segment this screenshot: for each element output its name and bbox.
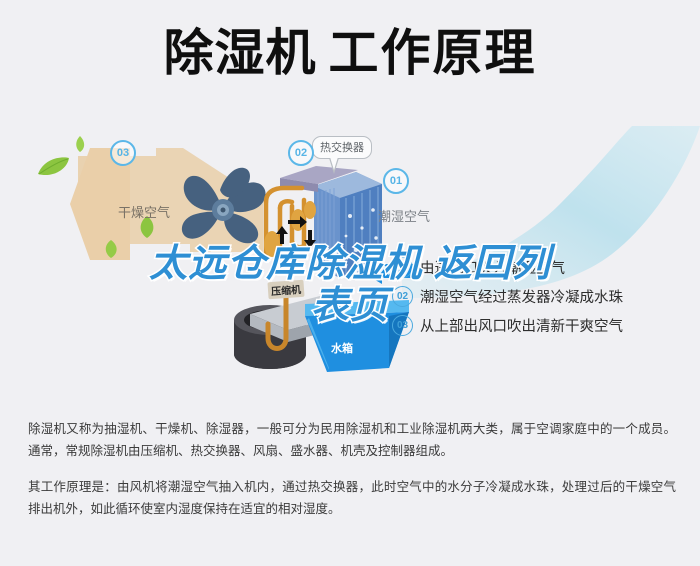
page-header: 除湿机工作原理 — [0, 0, 700, 118]
description-paragraph-2: 其工作原理是：由风机将潮湿空气抽入机内，通过热交换器，此时空气中的水分子冷凝成水… — [28, 476, 676, 520]
legend-item: 02 潮湿空气经过蒸发器冷凝成水珠 — [392, 282, 692, 311]
water-tank-label: 水箱 — [331, 340, 353, 356]
title-segment-product: 除湿机 — [164, 22, 317, 84]
legend-text-03: 从上部出风口吹出清新干爽空气 — [420, 315, 623, 336]
legend-item: 01 由进风口吸入潮湿空气 — [392, 253, 692, 282]
humid-air-label: 潮湿空气 — [378, 206, 430, 225]
heat-exchanger-callout: 热交换器 — [312, 136, 372, 159]
principle-legend-list: 01 由进风口吸入潮湿空气 02 潮湿空气经过蒸发器冷凝成水珠 03 从上部出风… — [392, 253, 692, 340]
legend-text-02: 潮湿空气经过蒸发器冷凝成水珠 — [420, 286, 623, 307]
legend-badge-03: 03 — [392, 315, 413, 336]
legend-text-01: 由进风口吸入潮湿空气 — [420, 257, 565, 278]
compressor-label: 压缩机 — [267, 280, 304, 299]
leaf-icon — [73, 136, 87, 152]
diagram-badge-02: 02 — [288, 140, 314, 166]
title-segment-principle: 工作原理 — [329, 22, 537, 84]
description-paragraph-1: 除湿机又称为抽湿机、干燥机、除湿器，一般可分为民用除湿机和工业除湿机两大类，属于… — [28, 418, 676, 462]
diagram-badge-03: 03 — [110, 140, 136, 166]
leaf-icon — [36, 156, 70, 178]
description-section: 除湿机又称为抽湿机、干燥机、除湿器，一般可分为民用除湿机和工业除湿机两大类，属于… — [28, 418, 676, 520]
page-title: 除湿机工作原理 — [0, 22, 700, 84]
legend-item: 03 从上部出风口吹出清新干爽空气 — [392, 311, 692, 340]
dry-air-label: 干燥空气 — [118, 202, 170, 221]
legend-badge-02: 02 — [392, 286, 413, 307]
legend-badge-01: 01 — [392, 257, 413, 278]
leaf-icon — [104, 240, 119, 258]
diagram-badge-01: 01 — [383, 168, 409, 194]
